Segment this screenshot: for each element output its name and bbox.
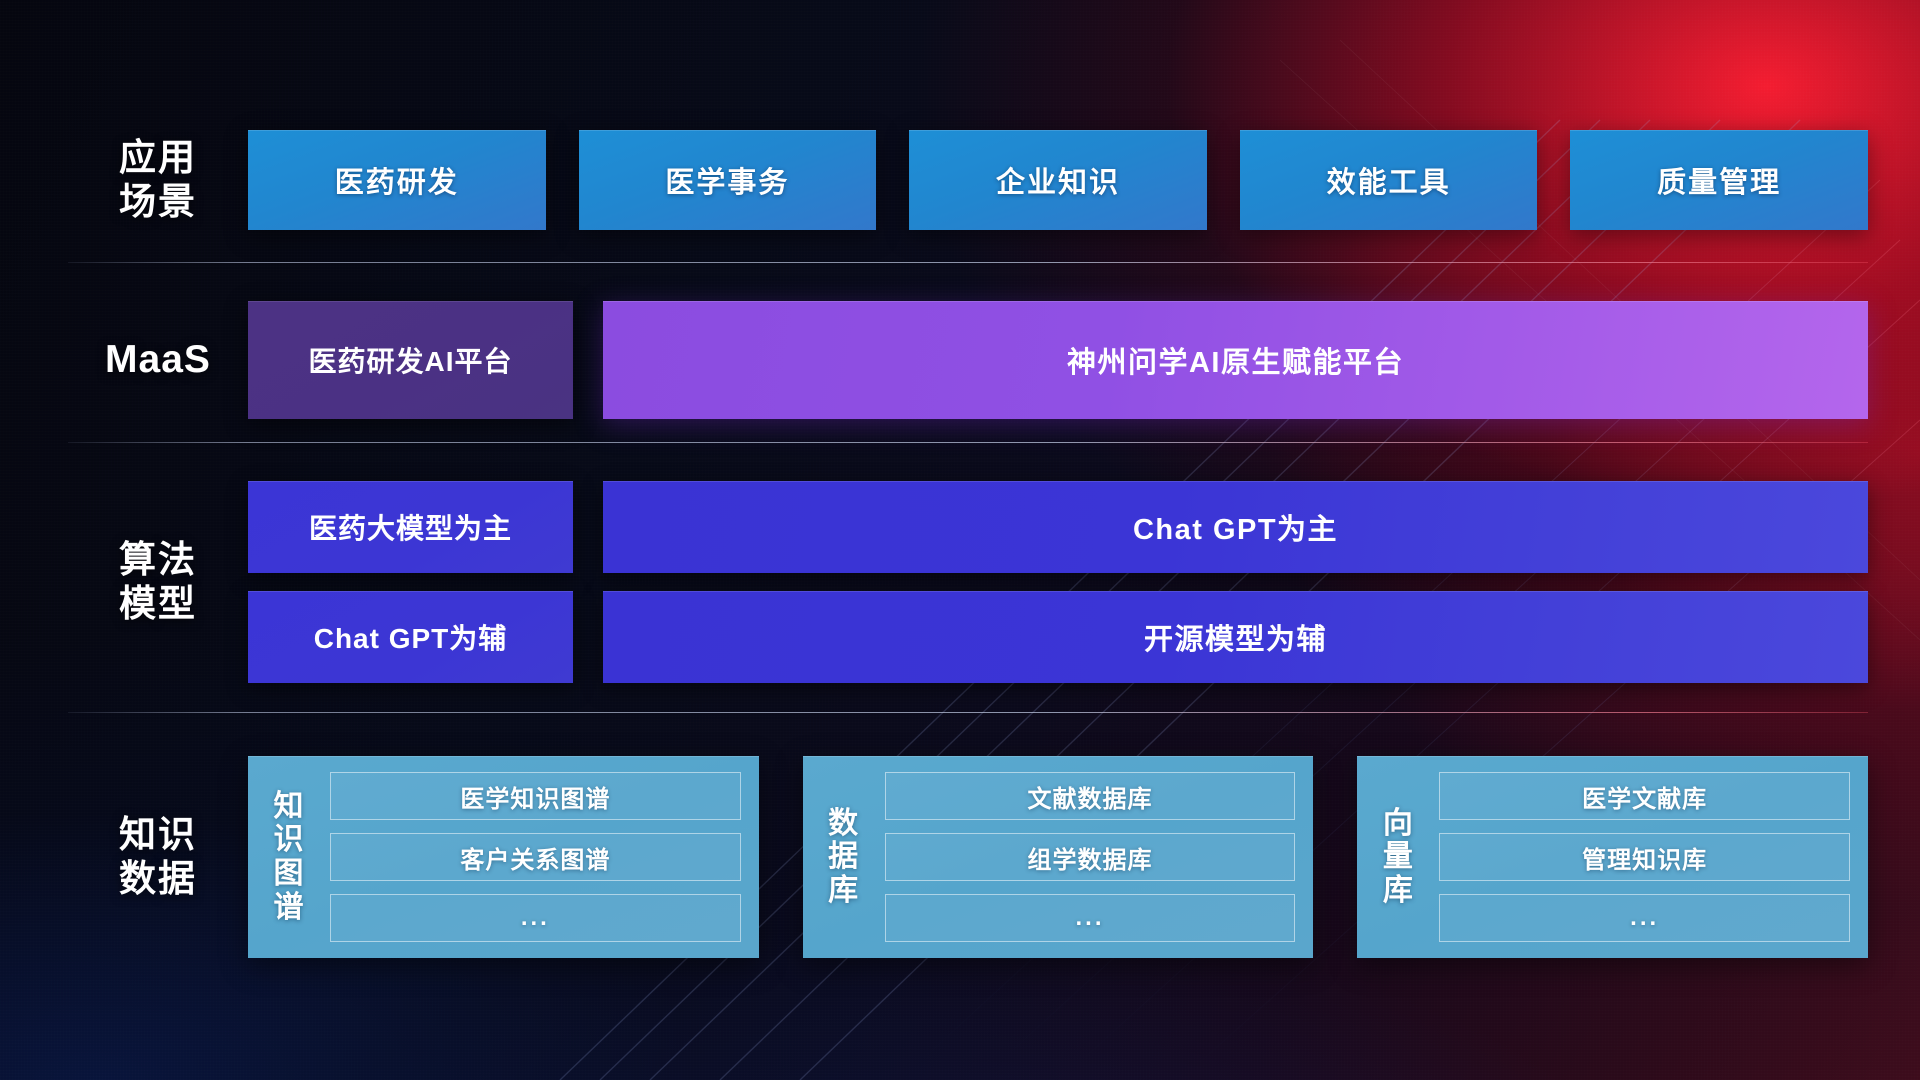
knowledge-panel-title-vector-store: 向 量 库	[1371, 772, 1425, 942]
knowledge-item-customer-relation-graph[interactable]: 客户关系图谱	[330, 833, 741, 881]
knowledge-item-more-database[interactable]: ...	[885, 894, 1296, 942]
knowledge-item-literature-database[interactable]: 文献数据库	[885, 772, 1296, 820]
algorithm-line-list: 医药大模型为主 Chat GPT为主 Chat GPT为辅 开源模型为辅	[248, 481, 1868, 683]
knowledge-item-medical-knowledge-graph[interactable]: 医学知识图谱	[330, 772, 741, 820]
maas-platform-list: 医药研发AI平台 神州问学AI原生赋能平台	[248, 301, 1868, 419]
application-card-efficiency-tools[interactable]: 效能工具	[1240, 130, 1538, 230]
knowledge-panel-title-knowledge-graph: 知 识 图 谱	[262, 772, 316, 942]
divider-applications-maas	[68, 262, 1868, 263]
algorithm-card-medicine-large-model-primary[interactable]: 医药大模型为主	[248, 481, 573, 573]
knowledge-item-list-database: 文献数据库 组学数据库 ...	[885, 772, 1296, 942]
divider-algorithms-knowledge	[68, 712, 1868, 713]
knowledge-item-list-knowledge-graph: 医学知识图谱 客户关系图谱 ...	[330, 772, 741, 942]
application-card-quality-management[interactable]: 质量管理	[1570, 130, 1868, 230]
knowledge-panel-knowledge-graph[interactable]: 知 识 图 谱 医学知识图谱 客户关系图谱 ...	[248, 756, 759, 958]
band-label-knowledge: 知识 数据	[68, 813, 248, 900]
band-applications: 应用 场景 医药研发 医学事务 企业知识 效能工具 质量管理	[0, 115, 1920, 245]
band-label-maas: MaaS	[68, 337, 248, 383]
architecture-diagram: 应用 场景 医药研发 医学事务 企业知识 效能工具 质量管理 MaaS 医药研发…	[0, 0, 1920, 1080]
application-card-medicine-rd[interactable]: 医药研发	[248, 130, 546, 230]
algorithm-line-secondary: Chat GPT为辅 开源模型为辅	[248, 591, 1868, 683]
knowledge-item-omics-database[interactable]: 组学数据库	[885, 833, 1296, 881]
application-card-enterprise-knowledge[interactable]: 企业知识	[909, 130, 1207, 230]
divider-maas-algorithms	[68, 442, 1868, 443]
application-card-list: 医药研发 医学事务 企业知识 效能工具 质量管理	[248, 130, 1868, 230]
knowledge-panel-title-database: 数 据 库	[817, 772, 871, 942]
knowledge-panel-list: 知 识 图 谱 医学知识图谱 客户关系图谱 ... 数 据 库 文献数据库 组学…	[248, 756, 1868, 958]
knowledge-item-management-knowledge-store[interactable]: 管理知识库	[1439, 833, 1850, 881]
knowledge-item-medical-literature-store[interactable]: 医学文献库	[1439, 772, 1850, 820]
algorithm-card-chatgpt-secondary[interactable]: Chat GPT为辅	[248, 591, 573, 683]
application-card-medical-affairs[interactable]: 医学事务	[579, 130, 877, 230]
algorithm-card-chatgpt-primary[interactable]: Chat GPT为主	[603, 481, 1868, 573]
maas-card-medicine-rd-ai-platform[interactable]: 医药研发AI平台	[248, 301, 573, 419]
knowledge-panel-vector-store[interactable]: 向 量 库 医学文献库 管理知识库 ...	[1357, 756, 1868, 958]
band-label-applications: 应用 场景	[68, 136, 248, 223]
band-maas: MaaS 医药研发AI平台 神州问学AI原生赋能平台	[0, 290, 1920, 430]
maas-card-shenzhou-wenxue-platform[interactable]: 神州问学AI原生赋能平台	[603, 301, 1868, 419]
band-knowledge: 知识 数据 知 识 图 谱 医学知识图谱 客户关系图谱 ... 数 据 库 文献…	[0, 732, 1920, 982]
band-algorithms: 算法 模型 医药大模型为主 Chat GPT为主 Chat GPT为辅 开源模型…	[0, 462, 1920, 702]
band-label-algorithms: 算法 模型	[68, 538, 248, 625]
knowledge-item-more-knowledge-graph[interactable]: ...	[330, 894, 741, 942]
knowledge-item-more-vector-store[interactable]: ...	[1439, 894, 1850, 942]
knowledge-item-list-vector-store: 医学文献库 管理知识库 ...	[1439, 772, 1850, 942]
algorithm-line-primary: 医药大模型为主 Chat GPT为主	[248, 481, 1868, 573]
knowledge-panel-database[interactable]: 数 据 库 文献数据库 组学数据库 ...	[803, 756, 1314, 958]
algorithm-card-opensource-model-secondary[interactable]: 开源模型为辅	[603, 591, 1868, 683]
